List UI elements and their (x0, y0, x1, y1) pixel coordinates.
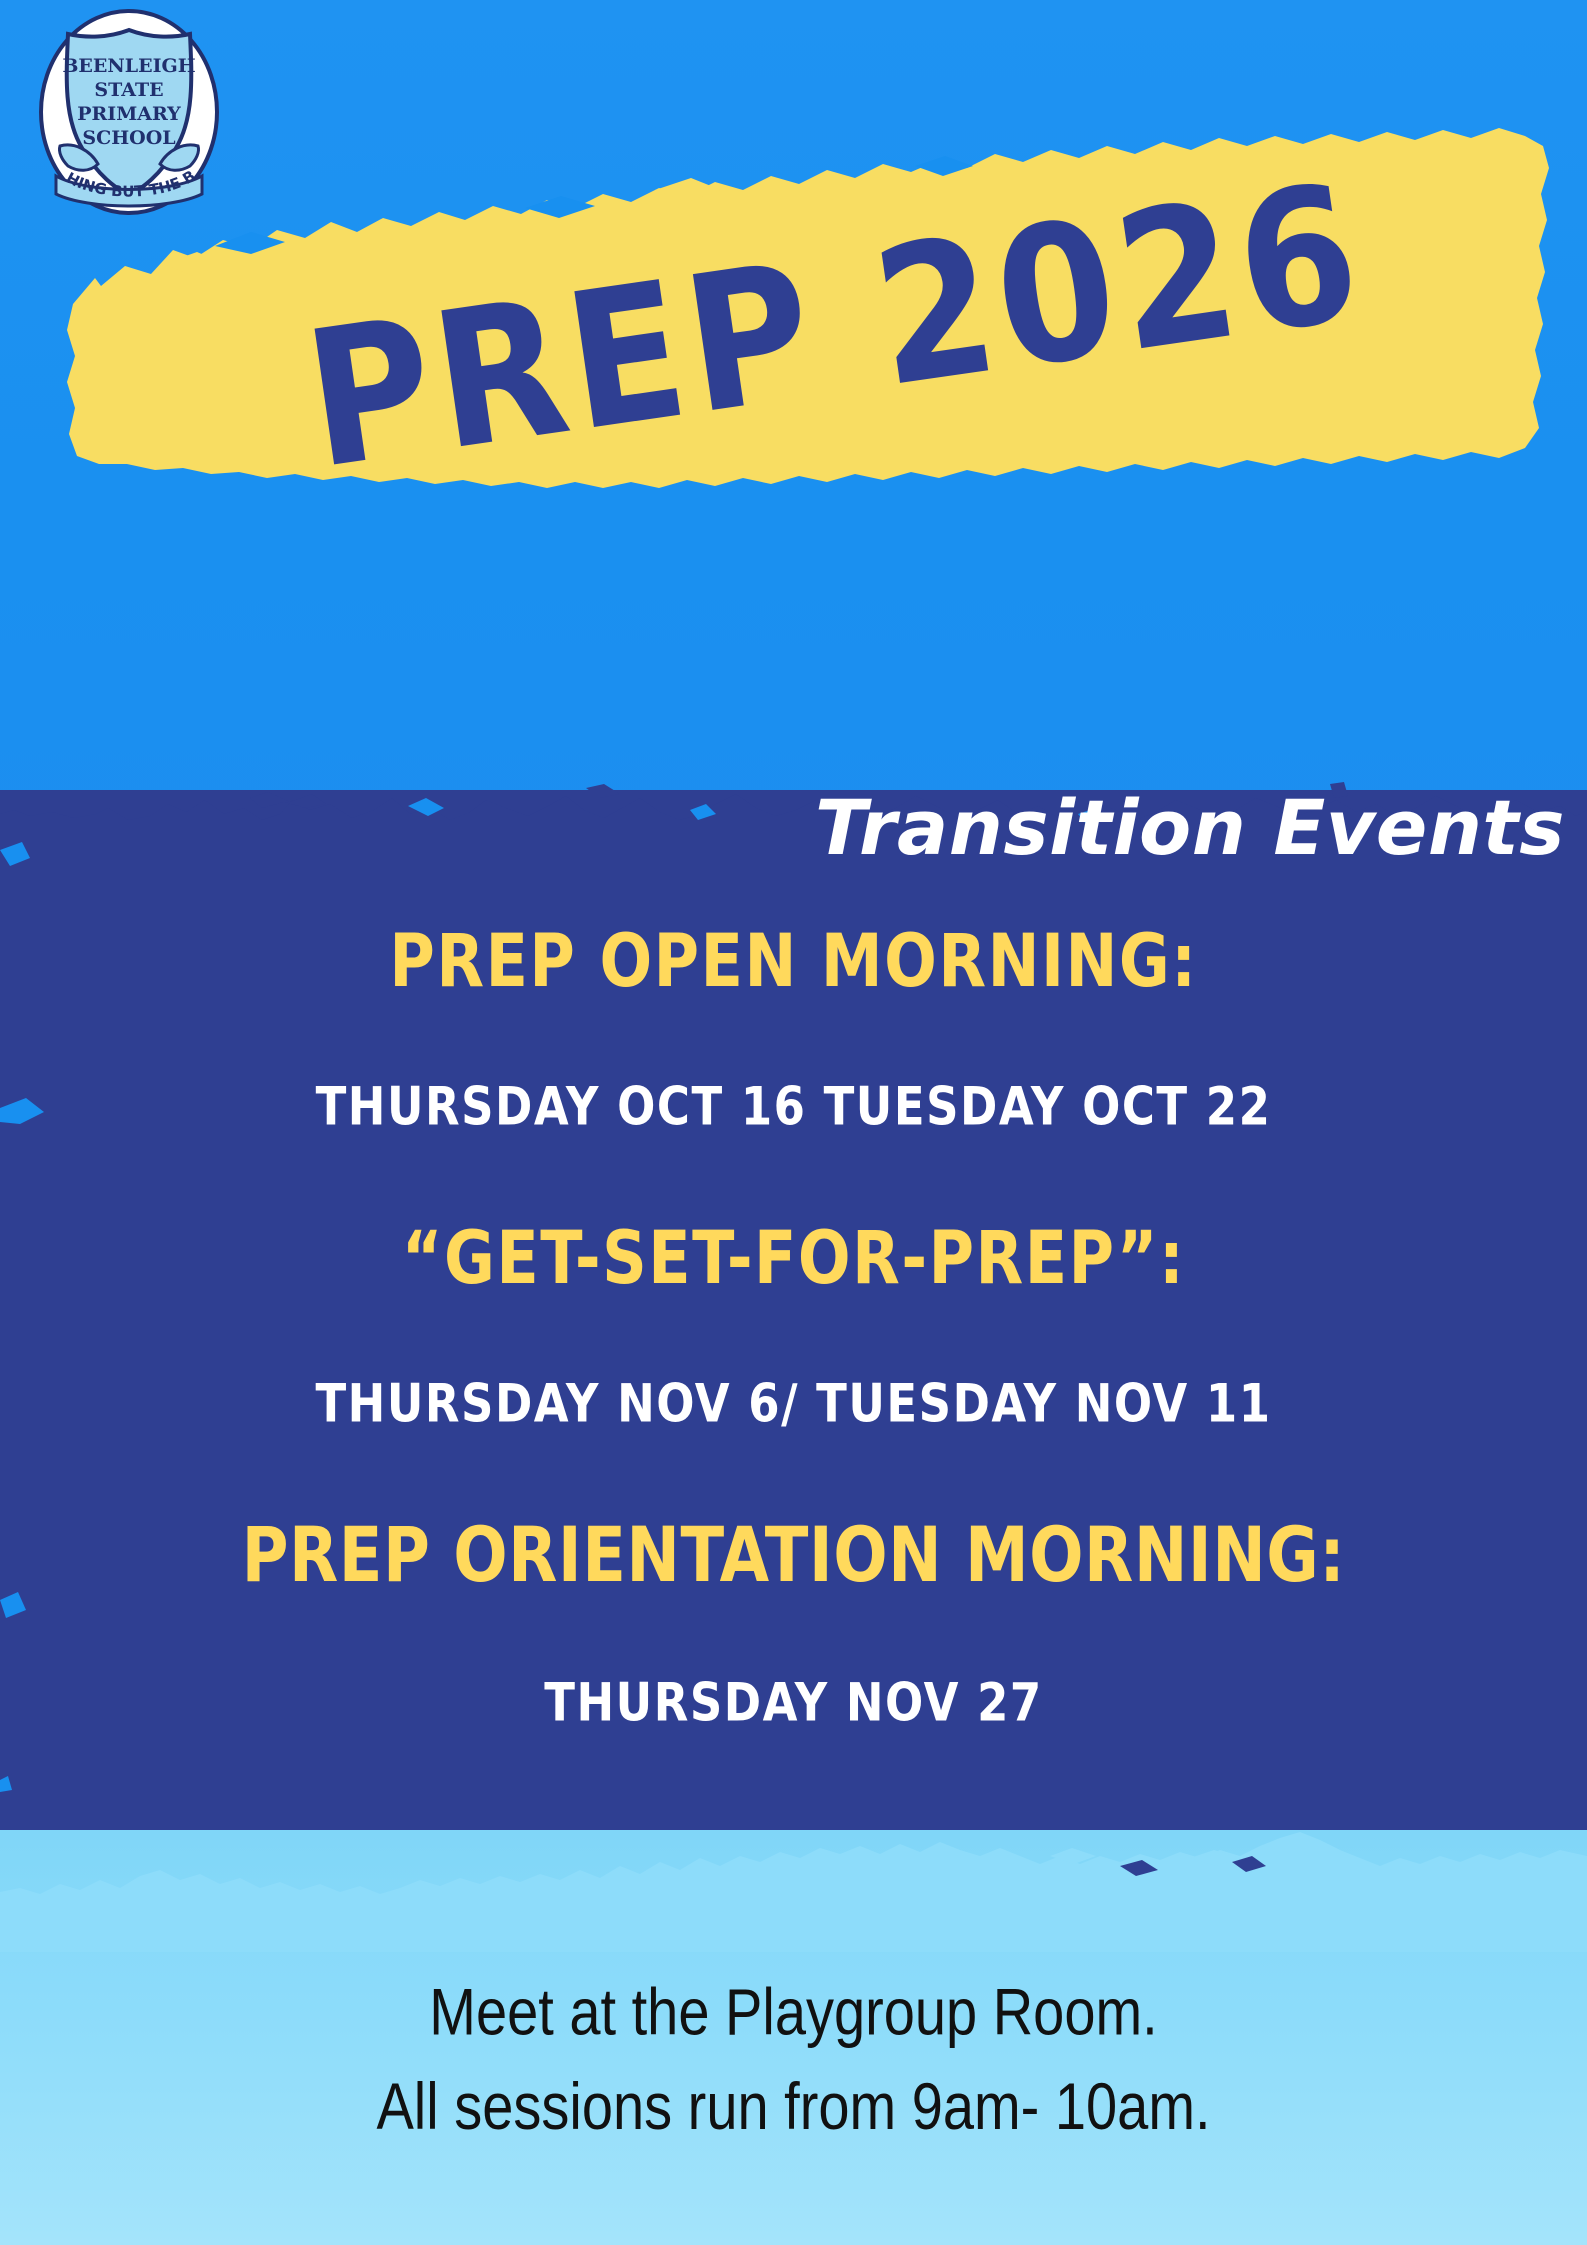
logo-line-3: PRIMARY (77, 103, 181, 125)
footer-line-1: Meet at the Playgroup Room. (0, 1965, 1587, 2059)
poster-canvas: BEENLEIGH STATE PRIMARY SCHOOL NOTHING B… (0, 0, 1587, 2245)
events-list: PREP OPEN MORNING: THURSDAY OCT 16 TUESD… (0, 930, 1587, 1725)
event-heading-get-set-for-prep: “GET-SET-FOR-PREP”: (0, 1221, 1587, 1294)
poster-subtitle: Transition Events (55, 783, 1565, 872)
event-heading-open-morning: PREP OPEN MORNING: (0, 924, 1587, 997)
logo-line-2: STATE (94, 79, 163, 101)
event-date-get-set-for-prep: THURSDAY NOV 6/ TUESDAY NOV 11 (0, 1377, 1587, 1429)
event-date-orientation-morning: THURSDAY NOV 27 (0, 1676, 1587, 1728)
event-date-open-morning: THURSDAY OCT 16 TUESDAY OCT 22 (0, 1080, 1587, 1132)
footer-note: Meet at the Playgroup Room. All sessions… (0, 1965, 1587, 2153)
logo-line-1: BEENLEIGH (62, 55, 195, 77)
yellow-brush-shape-icon (55, 128, 1565, 488)
footer-line-2: All sessions run from 9am- 10am. (0, 2059, 1587, 2153)
torn-edge-bottom-icon (0, 1812, 1587, 1952)
event-heading-orientation-morning: PREP ORIENTATION MORNING: (0, 1518, 1587, 1594)
title-banner: PREP 2026 Transition Events (55, 128, 1565, 488)
